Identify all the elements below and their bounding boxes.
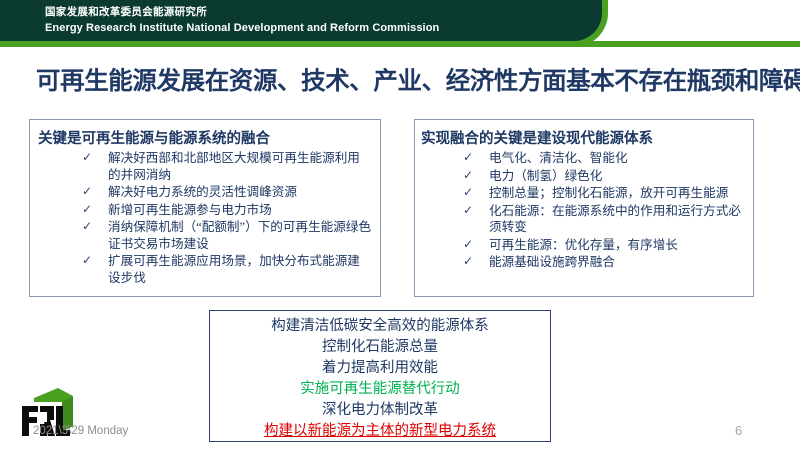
list-item-text: 解决好西部和北部地区大规模可再生能源利用的并网消纳 — [108, 151, 360, 182]
list-item: ✓新增可再生能源参与电力市场 — [82, 202, 372, 219]
list-item: ✓解决好电力系统的灵活性调峰资源 — [82, 184, 372, 201]
summary-line-highlight-green: 实施可再生能源替代行动 — [210, 379, 550, 400]
check-icon: ✓ — [82, 218, 92, 235]
list-item: ✓控制总量；控制化石能源，放开可再生能源 — [463, 185, 745, 202]
check-icon: ✓ — [463, 184, 473, 201]
check-icon: ✓ — [463, 202, 473, 219]
list-item-text: 电力（制氢）绿色化 — [489, 169, 602, 183]
left-content-box: 关键是可再生能源与能源系统的融合 ✓解决好西部和北部地区大规模可再生能源利用的并… — [29, 119, 381, 297]
left-box-list: ✓解决好西部和北部地区大规模可再生能源利用的并网消纳 ✓解决好电力系统的灵活性调… — [82, 150, 380, 286]
check-icon: ✓ — [463, 253, 473, 270]
check-icon: ✓ — [82, 201, 92, 218]
header-accent-strip — [0, 41, 800, 47]
list-item: ✓可再生能源：优化存量，有序增长 — [463, 237, 745, 254]
list-item-text: 扩展可再生能源应用场景，加快分布式能源建设步伐 — [108, 254, 360, 285]
summary-line-highlight-red: 构建以新能源为主体的新型电力系统 — [210, 421, 550, 442]
organization-name-en: Energy Research Institute National Devel… — [45, 20, 565, 36]
list-item-text: 电气化、清洁化、智能化 — [489, 151, 628, 165]
summary-line: 控制化石能源总量 — [210, 337, 550, 358]
check-icon: ✓ — [82, 183, 92, 200]
check-icon: ✓ — [82, 252, 92, 269]
list-item-text: 化石能源：在能源系统中的作用和运行方式必须转变 — [489, 204, 741, 235]
right-box-heading: 实现融合的关键是建设现代能源体系 — [421, 127, 753, 148]
summary-box: 构建清洁低碳安全高效的能源体系 控制化石能源总量 着力提高利用效能 实施可再生能… — [209, 310, 551, 442]
summary-line: 构建清洁低碳安全高效的能源体系 — [210, 316, 550, 337]
check-icon: ✓ — [463, 236, 473, 253]
right-content-box: 实现融合的关键是建设现代能源体系 ✓电气化、清洁化、智能化 ✓电力（制氢）绿色化… — [414, 119, 754, 297]
page-title: 可再生能源发展在资源、技术、产业、经济性方面基本不存在瓶颈和障碍 — [36, 62, 796, 97]
summary-line: 着力提高利用效能 — [210, 358, 550, 379]
check-icon: ✓ — [82, 149, 92, 166]
list-item: ✓消纳保障机制（“配额制”）下的可再生能源绿色证书交易市场建设 — [82, 219, 372, 252]
list-item: ✓电力（制氢）绿色化 — [463, 168, 745, 185]
organization-name-cn: 国家发展和改革委员会能源研究所 — [45, 5, 565, 20]
summary-line: 深化电力体制改革 — [210, 400, 550, 421]
list-item-text: 能源基础设施跨界融合 — [489, 255, 615, 269]
list-item: ✓电气化、清洁化、智能化 — [463, 150, 745, 167]
list-item: ✓化石能源：在能源系统中的作用和运行方式必须转变 — [463, 203, 745, 236]
right-box-list: ✓电气化、清洁化、智能化 ✓电力（制氢）绿色化 ✓控制总量；控制化石能源，放开可… — [463, 150, 753, 271]
check-icon: ✓ — [463, 149, 473, 166]
list-item-text: 可再生能源：优化存量，有序增长 — [489, 238, 678, 252]
footer-date: 2021\3\29 Monday — [33, 425, 128, 437]
check-icon: ✓ — [463, 167, 473, 184]
list-item-text: 新增可再生能源参与电力市场 — [108, 203, 272, 217]
list-item-text: 解决好电力系统的灵活性调峰资源 — [108, 185, 297, 199]
left-box-heading: 关键是可再生能源与能源系统的融合 — [38, 127, 380, 148]
page-number: 6 — [735, 423, 742, 438]
list-item-text: 控制总量；控制化石能源，放开可再生能源 — [489, 186, 728, 200]
list-item: ✓能源基础设施跨界融合 — [463, 254, 745, 271]
header-text-block: 国家发展和改革委员会能源研究所 Energy Research Institut… — [45, 5, 565, 36]
list-item: ✓解决好西部和北部地区大规模可再生能源利用的并网消纳 — [82, 150, 372, 183]
list-item-text: 消纳保障机制（“配额制”）下的可再生能源绿色证书交易市场建设 — [108, 220, 371, 251]
list-item: ✓扩展可再生能源应用场景，加快分布式能源建设步伐 — [82, 253, 372, 286]
